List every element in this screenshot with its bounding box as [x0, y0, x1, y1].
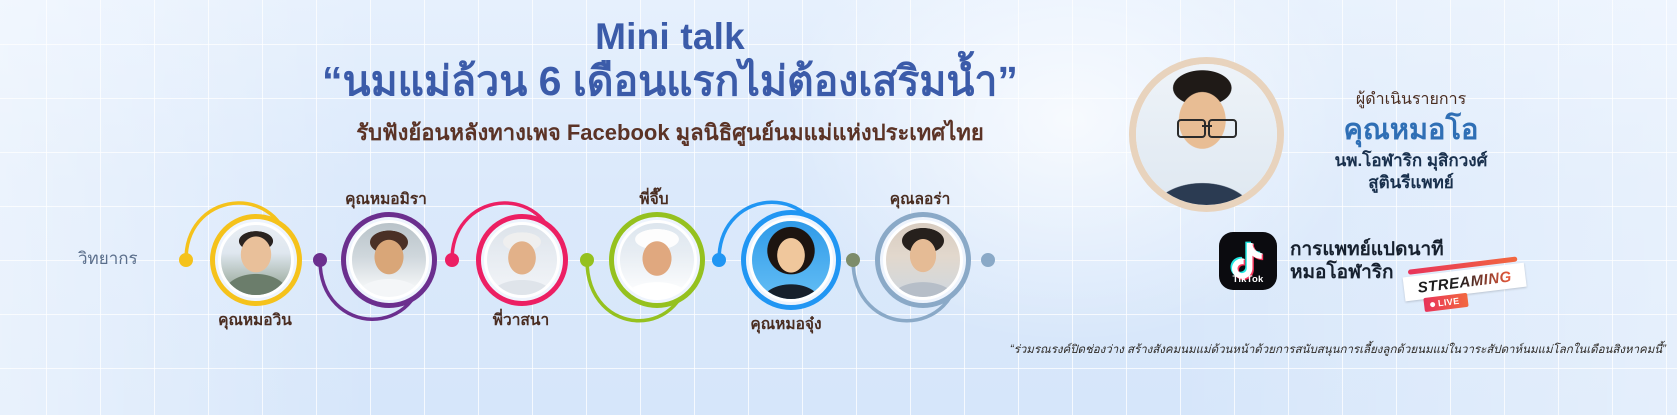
- presenter-fullname: นพ.โอฬาริก มุสิกวงศ์: [1296, 150, 1526, 172]
- headline-line1: Mini talk: [250, 16, 1090, 57]
- tiktok-wordmark: TikTok: [1219, 274, 1277, 285]
- presenter-specialty: สูตินรีแพทย์: [1296, 172, 1526, 194]
- speaker-2-name: คุณหมอมิรา: [291, 186, 481, 211]
- footer-caption: “ร่วมรณรงค์ปิดช่องว่าง สร้างสังคมนมแม่ด้…: [838, 343, 1666, 358]
- speaker-2[interactable]: คุณหมอมิรา: [341, 212, 437, 308]
- speaker-5[interactable]: คุณหมอจุ๋ง: [741, 210, 841, 310]
- headline-line2: “นมแม่ล้วน 6 เดือนแรกไม่ต้องเสริมน้ำ”: [250, 57, 1090, 105]
- speaker-2-avatar: [349, 220, 429, 300]
- presenter-nickname: คุณหมอโอ: [1296, 112, 1526, 148]
- headline-subtitle: รับฟังย้อนหลังทางเพจ Facebook มูลนิธิศูน…: [250, 120, 1090, 146]
- speakers-row: คุณหมอวิน คุณหมอมิรา พี่วาสนา พี่จี๊บ: [0, 178, 1060, 358]
- speaker-6[interactable]: คุณลอร่า: [875, 212, 971, 308]
- speaker-5-name: คุณหมอจุ๋ง: [691, 311, 881, 336]
- speaker-3-avatar: [484, 222, 560, 298]
- speaker-3[interactable]: พี่วาสนา: [476, 214, 568, 306]
- speaker-1-avatar: [218, 222, 294, 298]
- streaming-badge-text: STREAMING: [1417, 268, 1513, 296]
- speaker-4[interactable]: พี่จี๊บ: [609, 212, 705, 308]
- speaker-6-avatar: [883, 220, 963, 300]
- promo-banner: Mini talk “นมแม่ล้วน 6 เดือนแรกไม่ต้องเส…: [0, 0, 1677, 415]
- speaker-6-name: คุณลอร่า: [825, 186, 1015, 211]
- channel-name-line1: การแพทย์แปดนาที: [1290, 238, 1444, 261]
- headline-block: Mini talk “นมแม่ล้วน 6 เดือนแรกไม่ต้องเส…: [250, 16, 1090, 146]
- presenter-role: ผู้ดำเนินรายการ: [1296, 90, 1526, 111]
- presenter-info: ผู้ดำเนินรายการ คุณหมอโอ นพ.โอฬาริก มุสิ…: [1296, 90, 1526, 194]
- presenter-avatar: [1129, 57, 1284, 212]
- speaker-5-avatar: [749, 218, 833, 302]
- speaker-3-name: พี่วาสนา: [426, 307, 616, 332]
- speaker-4-avatar: [617, 220, 697, 300]
- speaker-1-name: คุณหมอวิน: [160, 307, 350, 332]
- live-tag-label: LIVE: [1437, 296, 1460, 309]
- live-dot-icon: [1430, 301, 1436, 307]
- speaker-1[interactable]: คุณหมอวิน: [210, 214, 302, 306]
- speaker-4-name: พี่จี๊บ: [559, 186, 749, 211]
- tiktok-icon[interactable]: TikTok: [1219, 232, 1277, 290]
